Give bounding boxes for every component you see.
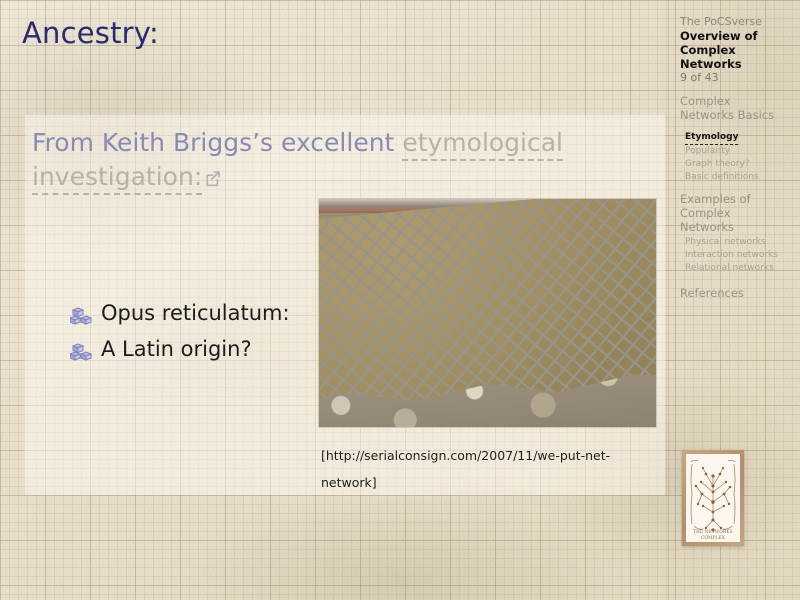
sidebar-item-references[interactable]: References [680, 286, 792, 300]
bullet-label: Opus reticulatum: [101, 300, 290, 327]
sidebar-item-interaction-networks[interactable]: Interaction networks [685, 249, 792, 262]
caption-line-1: [http://serialconsign.com/2007/11/we-put… [321, 442, 641, 469]
logo-caption-line-2: COMPLEX [686, 535, 740, 540]
logo-caption-line-1: THE NETWORKS [686, 529, 740, 534]
sidebar-deck-title-line3: Networks [680, 57, 792, 71]
sidebar-item-etymology-wrap: Etymology [680, 124, 792, 145]
networks-complex-logo: THE NETWORKS COMPLEX [682, 450, 744, 546]
sidebar-item-basic-definitions[interactable]: Basic definitions [685, 171, 792, 184]
external-link-icon[interactable] [203, 163, 223, 197]
sidebar-item-graph-theory[interactable]: Graph theory? [685, 158, 792, 171]
sidebar-deck-title-line1: Overview of [680, 29, 792, 43]
page-title: Ancestry: [22, 16, 159, 50]
logo-caption: THE NETWORKS COMPLEX [686, 529, 740, 540]
sidebar-section-complex-networks-basics-line1[interactable]: Complex [680, 94, 792, 108]
slide-canvas: Ancestry: From Keith Briggs’s excellent … [0, 0, 800, 600]
sidebar-nav: The PoCSverse Overview of Complex Networ… [680, 15, 792, 300]
logo-inner-panel: THE NETWORKS COMPLEX [686, 454, 740, 542]
bullet-label: A Latin origin? [101, 336, 252, 363]
sidebar-brand: The PoCSverse [680, 15, 792, 29]
list-item: A Latin origin? [70, 336, 300, 366]
photo-caption: [http://serialconsign.com/2007/11/we-put… [321, 442, 641, 496]
sidebar-item-etymology[interactable]: Etymology [685, 131, 738, 145]
cubes-icon [70, 307, 92, 330]
sidebar-section-examples-line3[interactable]: Networks [680, 220, 792, 234]
sidebar-sublist-examples: Physical networks Interaction networks R… [680, 236, 792, 275]
etymological-link[interactable]: etymological [402, 128, 563, 161]
sidebar-item-physical-networks[interactable]: Physical networks [685, 236, 792, 249]
lead-paragraph: From Keith Briggs’s excellent etymologic… [32, 126, 632, 197]
investigation-link[interactable]: investigation: [32, 162, 202, 195]
sidebar-sublist-basics: Etymology Popularity Graph theory? Basic… [680, 124, 792, 184]
sidebar-divider [668, 0, 669, 600]
sidebar-item-popularity[interactable]: Popularity [685, 145, 792, 158]
sidebar-deck-title-line2: Complex [680, 43, 792, 57]
caption-line-2: network] [321, 469, 641, 496]
cubes-icon [70, 343, 92, 366]
sidebar-section-examples-line2[interactable]: Complex [680, 206, 792, 220]
list-item: Opus reticulatum: [70, 300, 300, 330]
sidebar-section-complex-networks-basics-line2[interactable]: Networks Basics [680, 108, 792, 122]
opus-reticulatum-photo [319, 199, 656, 427]
lead-text-part1: From Keith Briggs’s excellent [32, 128, 402, 157]
bullet-list: Opus reticulatum: [70, 300, 300, 372]
sidebar-item-relational-networks[interactable]: Relational networks [685, 262, 792, 275]
slide-counter: 9 of 43 [680, 71, 792, 85]
sidebar-section-examples-line1[interactable]: Examples of [680, 192, 792, 206]
